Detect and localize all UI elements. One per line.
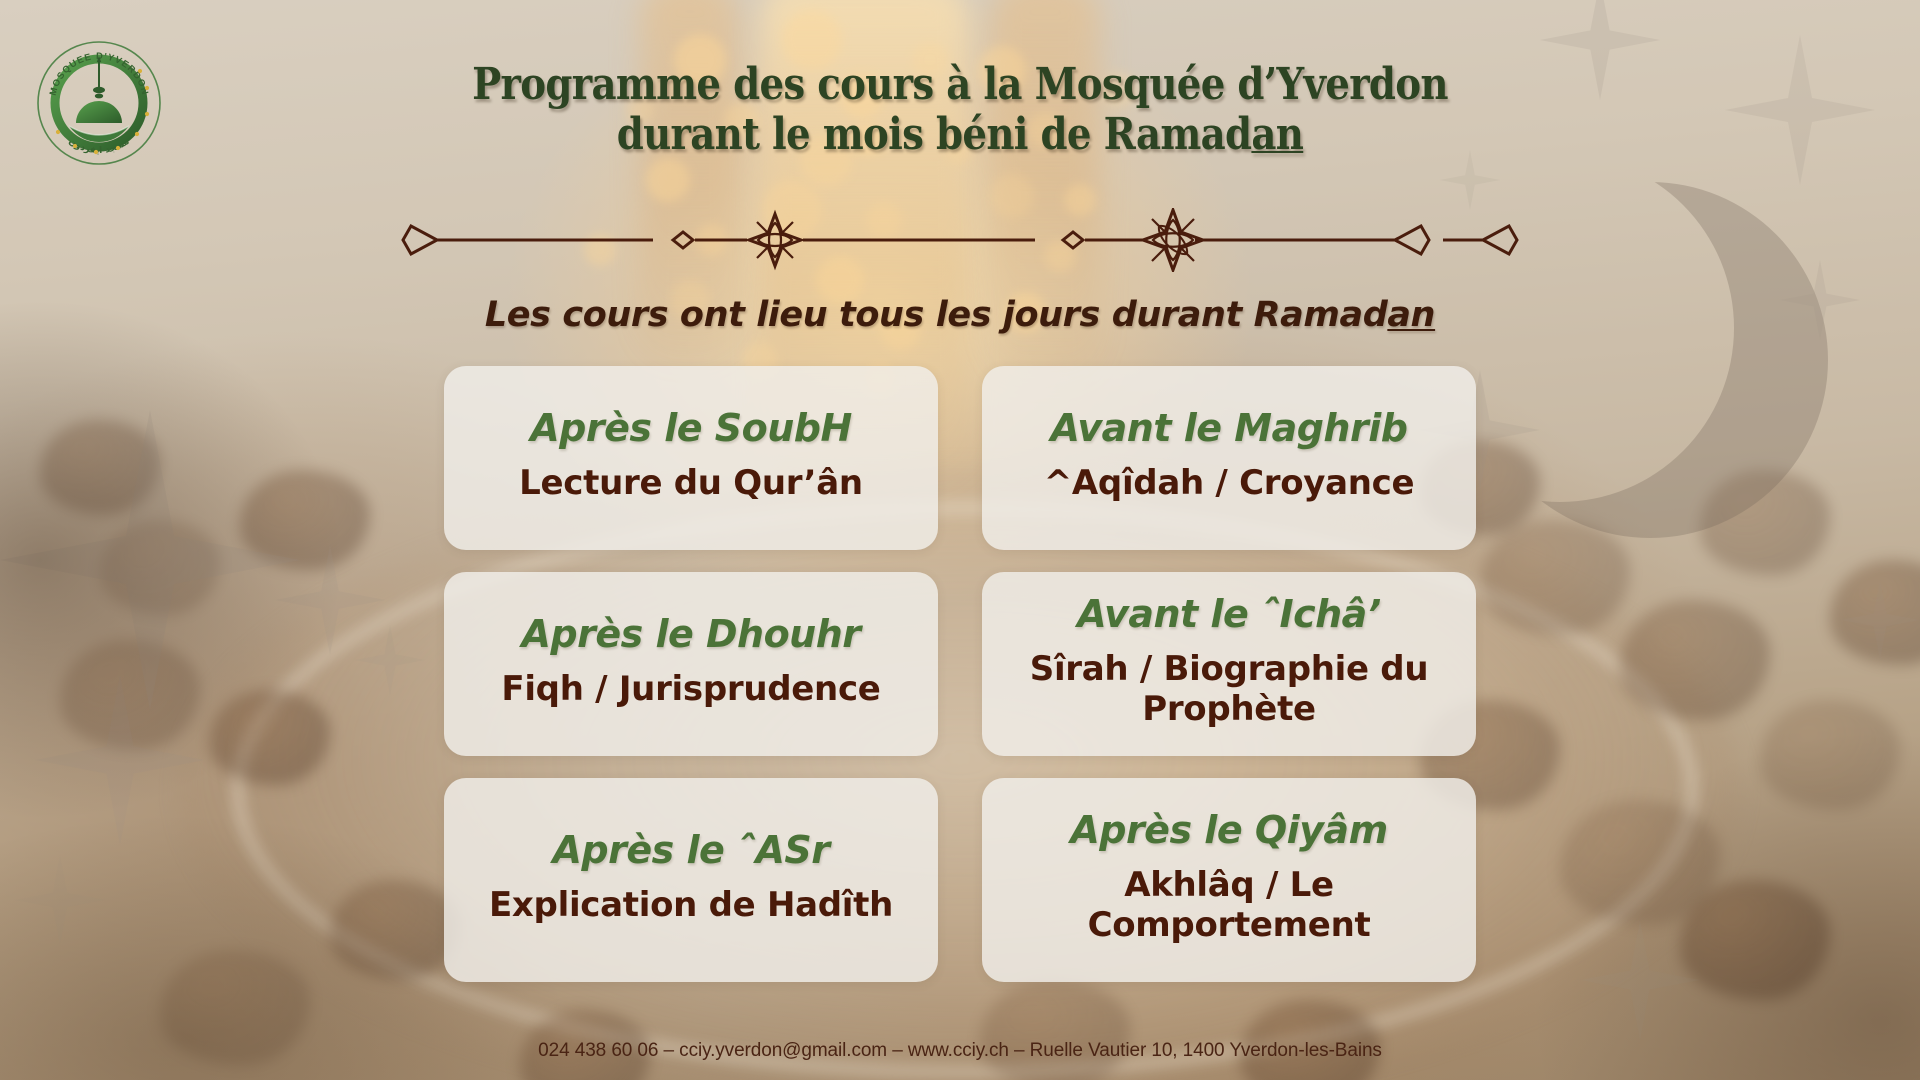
course-time: Avant le ˆIchâ’ xyxy=(1077,591,1381,637)
subtitle-underlined: an xyxy=(1387,295,1435,335)
course-card[interactable]: Après le Qiyâm Akhlâq / Le Comportement xyxy=(982,778,1476,982)
course-time: Après le Qiyâm xyxy=(1070,807,1387,853)
course-time: Après le SoubH xyxy=(530,405,852,451)
course-subject: Sîrah / Biographie du Prophète xyxy=(1000,649,1458,729)
course-subject: Fiqh / Jurisprudence xyxy=(501,669,880,709)
course-subject: Lecture du Qur’ân xyxy=(519,463,863,503)
title-line-2-text: durant le mois béni de Ramad xyxy=(617,109,1252,160)
course-time: Après le Dhouhr xyxy=(521,611,860,657)
course-subject: ^Aqîdah / Croyance xyxy=(1044,463,1415,503)
course-subject: Explication de Hadîth xyxy=(489,885,893,925)
title-line-2-underlined: an xyxy=(1251,109,1303,160)
course-card[interactable]: Avant le ˆIchâ’ Sîrah / Biographie du Pr… xyxy=(982,572,1476,756)
course-time: Avant le Maghrib xyxy=(1051,405,1408,451)
subtitle: Les cours ont lieu tous les jours durant… xyxy=(0,295,1920,335)
poster-canvas: MOSQUEE D'YVERDON مسجد ايفردون xyxy=(0,0,1920,1080)
course-card[interactable]: Après le SoubH Lecture du Qur’ân xyxy=(444,366,938,550)
course-card[interactable]: Après le Dhouhr Fiqh / Jurisprudence xyxy=(444,572,938,756)
title-line-2: durant le mois béni de Ramadan xyxy=(115,110,1805,160)
course-schedule-grid: Après le SoubH Lecture du Qur’ân Avant l… xyxy=(444,366,1476,982)
title-line-1: Programme des cours à la Mosquée d’Yverd… xyxy=(115,60,1805,110)
course-subject: Akhlâq / Le Comportement xyxy=(1000,865,1458,945)
contact-footer: 024 438 60 06 – cciy.yverdon@gmail.com –… xyxy=(0,1040,1920,1062)
course-card[interactable]: Après le ˆASr Explication de Hadîth xyxy=(444,778,938,982)
subtitle-text: Les cours ont lieu tous les jours durant… xyxy=(485,295,1387,335)
course-time: Après le ˆASr xyxy=(552,827,829,873)
ornamental-divider xyxy=(395,208,1525,272)
course-card[interactable]: Avant le Maghrib ^Aqîdah / Croyance xyxy=(982,366,1476,550)
page-title: Programme des cours à la Mosquée d’Yverd… xyxy=(0,60,1920,160)
